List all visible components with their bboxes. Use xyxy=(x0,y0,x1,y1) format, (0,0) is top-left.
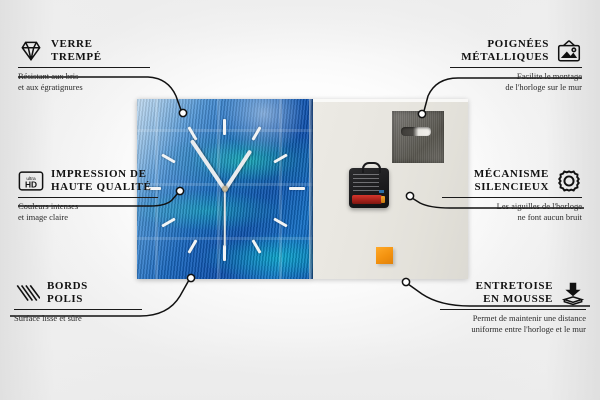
callout-impression-haute-qualite: ultra HD IMPRESSION DE HAUTE QUALITÉ Cou… xyxy=(18,168,158,222)
connector-dot-entretoise xyxy=(402,278,409,285)
metal-hanger-plate xyxy=(392,111,444,163)
callout-subtitle: Les aiguilles de l'horloge ne font aucun… xyxy=(442,201,582,222)
callout-subtitle: Surface lisse et sûre xyxy=(14,313,142,324)
gear-icon xyxy=(556,168,582,194)
hour-tick xyxy=(289,187,305,190)
callout-title: BORDS POLIS xyxy=(47,280,88,306)
callout-title: MÉCANISME SILENCIEUX xyxy=(474,168,549,194)
callout-divider xyxy=(18,67,150,68)
callout-verre-trempe: VERRE TREMPÉ Résistant aux bris et aux é… xyxy=(18,38,150,92)
callout-entretoise-en-mousse: ENTRETOISE EN MOUSSE Permet de maintenir… xyxy=(440,280,586,334)
hour-tick xyxy=(223,245,226,261)
clock-mechanism xyxy=(349,168,389,208)
mechanism-label-text xyxy=(353,174,379,192)
callout-subtitle: Couleurs intenses et image claire xyxy=(18,201,158,222)
battery xyxy=(352,195,382,204)
second-hand xyxy=(224,190,226,246)
product-image xyxy=(137,99,468,279)
callout-header: ultra HD IMPRESSION DE HAUTE QUALITÉ xyxy=(18,168,158,194)
mechanism-hanging-loop xyxy=(362,162,381,173)
foam-spacer-icon xyxy=(560,280,586,306)
callout-title: POIGNÉES MÉTALLIQUES xyxy=(461,38,549,64)
callout-title: ENTRETOISE EN MOUSSE xyxy=(476,280,553,306)
callout-mecanisme-silencieux: MÉCANISME SILENCIEUX Les aiguilles de l'… xyxy=(442,168,582,222)
callout-title: IMPRESSION DE HAUTE QUALITÉ xyxy=(51,168,151,194)
ultra-hd-icon: ultra HD xyxy=(18,168,44,194)
clock-front-panel xyxy=(137,99,313,279)
callout-subtitle: Permet de maintenir une distance uniform… xyxy=(440,313,586,334)
callout-header: MÉCANISME SILENCIEUX xyxy=(442,168,582,194)
callout-header: BORDS POLIS xyxy=(14,280,142,306)
callout-title: VERRE TREMPÉ xyxy=(51,38,102,64)
infographic-canvas: VERRE TREMPÉ Résistant aux bris et aux é… xyxy=(0,0,600,400)
back-top-highlight xyxy=(313,99,468,102)
hour-tick xyxy=(223,119,226,135)
callout-bords-polis: BORDS POLIS Surface lisse et sûre xyxy=(14,280,142,324)
callout-divider xyxy=(14,309,142,310)
callout-subtitle: Facilite le montage de l'horloge sur le … xyxy=(450,71,582,92)
orange-foam-spacer xyxy=(376,247,393,264)
callout-divider xyxy=(442,197,582,198)
callout-poignees-metalliques: POIGNÉES MÉTALLIQUES Facilite le montage… xyxy=(450,38,582,92)
diamond-icon xyxy=(18,38,44,64)
callout-divider xyxy=(440,309,586,310)
callout-divider xyxy=(450,67,582,68)
callout-header: POIGNÉES MÉTALLIQUES xyxy=(450,38,582,64)
hanger-keyhole-slot xyxy=(401,127,431,136)
callout-header: ENTRETOISE EN MOUSSE xyxy=(440,280,586,306)
svg-text:HD: HD xyxy=(25,180,37,190)
callout-header: VERRE TREMPÉ xyxy=(18,38,150,64)
mechanism-indicator xyxy=(379,190,384,193)
picture-hanger-icon xyxy=(556,38,582,64)
callout-subtitle: Résistant aux bris et aux égratignures xyxy=(18,71,150,92)
polished-edge-icon xyxy=(14,280,40,306)
hand-center-cap xyxy=(222,186,228,192)
callout-divider xyxy=(18,197,158,198)
